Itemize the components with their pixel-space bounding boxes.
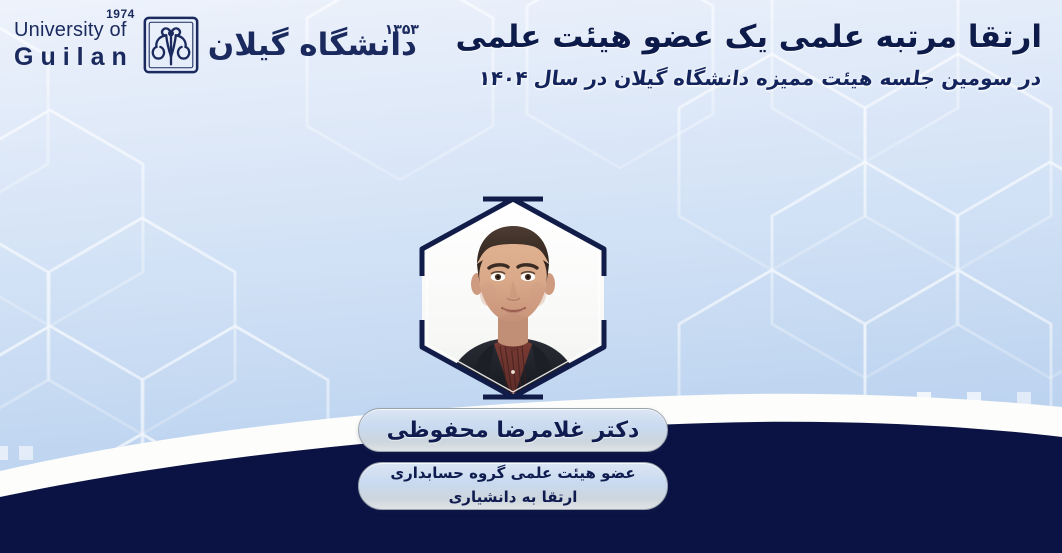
announcement-poster: University of 1974 Guilan	[0, 0, 1062, 553]
logo-university-of-label: University of	[14, 19, 127, 41]
logo-persian-text: ۱۳۵۳ دانشگاه گیلان	[208, 28, 417, 62]
logo-line-guilan: Guilan	[14, 45, 134, 70]
portrait-hexagon-svg	[408, 196, 618, 400]
university-logo: University of 1974 Guilan	[14, 14, 417, 76]
logo-year-latin: 1974	[106, 8, 135, 20]
portrait-photo	[408, 196, 618, 400]
person-role-line-2: ارتقا به دانشیاری	[449, 487, 578, 509]
person-role-badge: عضو هیئت علمی گروه حسابداری ارتقا به دان…	[358, 462, 668, 510]
person-role-line-1: عضو هیئت علمی گروه حسابداری	[390, 463, 635, 485]
header: University of 1974 Guilan	[0, 0, 1062, 128]
logo-year-persian: ۱۳۵۳	[385, 22, 419, 38]
person-name: دکتر غلامرضا محفوظی	[387, 418, 640, 443]
page-title: ارتقا مرتبه علمی یک عضو هیئت علمی	[455, 18, 1042, 57]
portrait-hexagon	[408, 196, 618, 400]
guilan-university-emblem-icon	[140, 14, 202, 76]
title-group: ارتقا مرتبه علمی یک عضو هیئت علمی در سوم…	[455, 18, 1042, 90]
logo-line-university-of: University of 1974	[14, 20, 134, 40]
logo-english-text: University of 1974 Guilan	[14, 20, 134, 70]
person-name-badge: دکتر غلامرضا محفوظی	[358, 408, 668, 452]
page-subtitle: در سومین جلسه هیئت ممیزه دانشگاه گیلان د…	[454, 66, 1043, 90]
